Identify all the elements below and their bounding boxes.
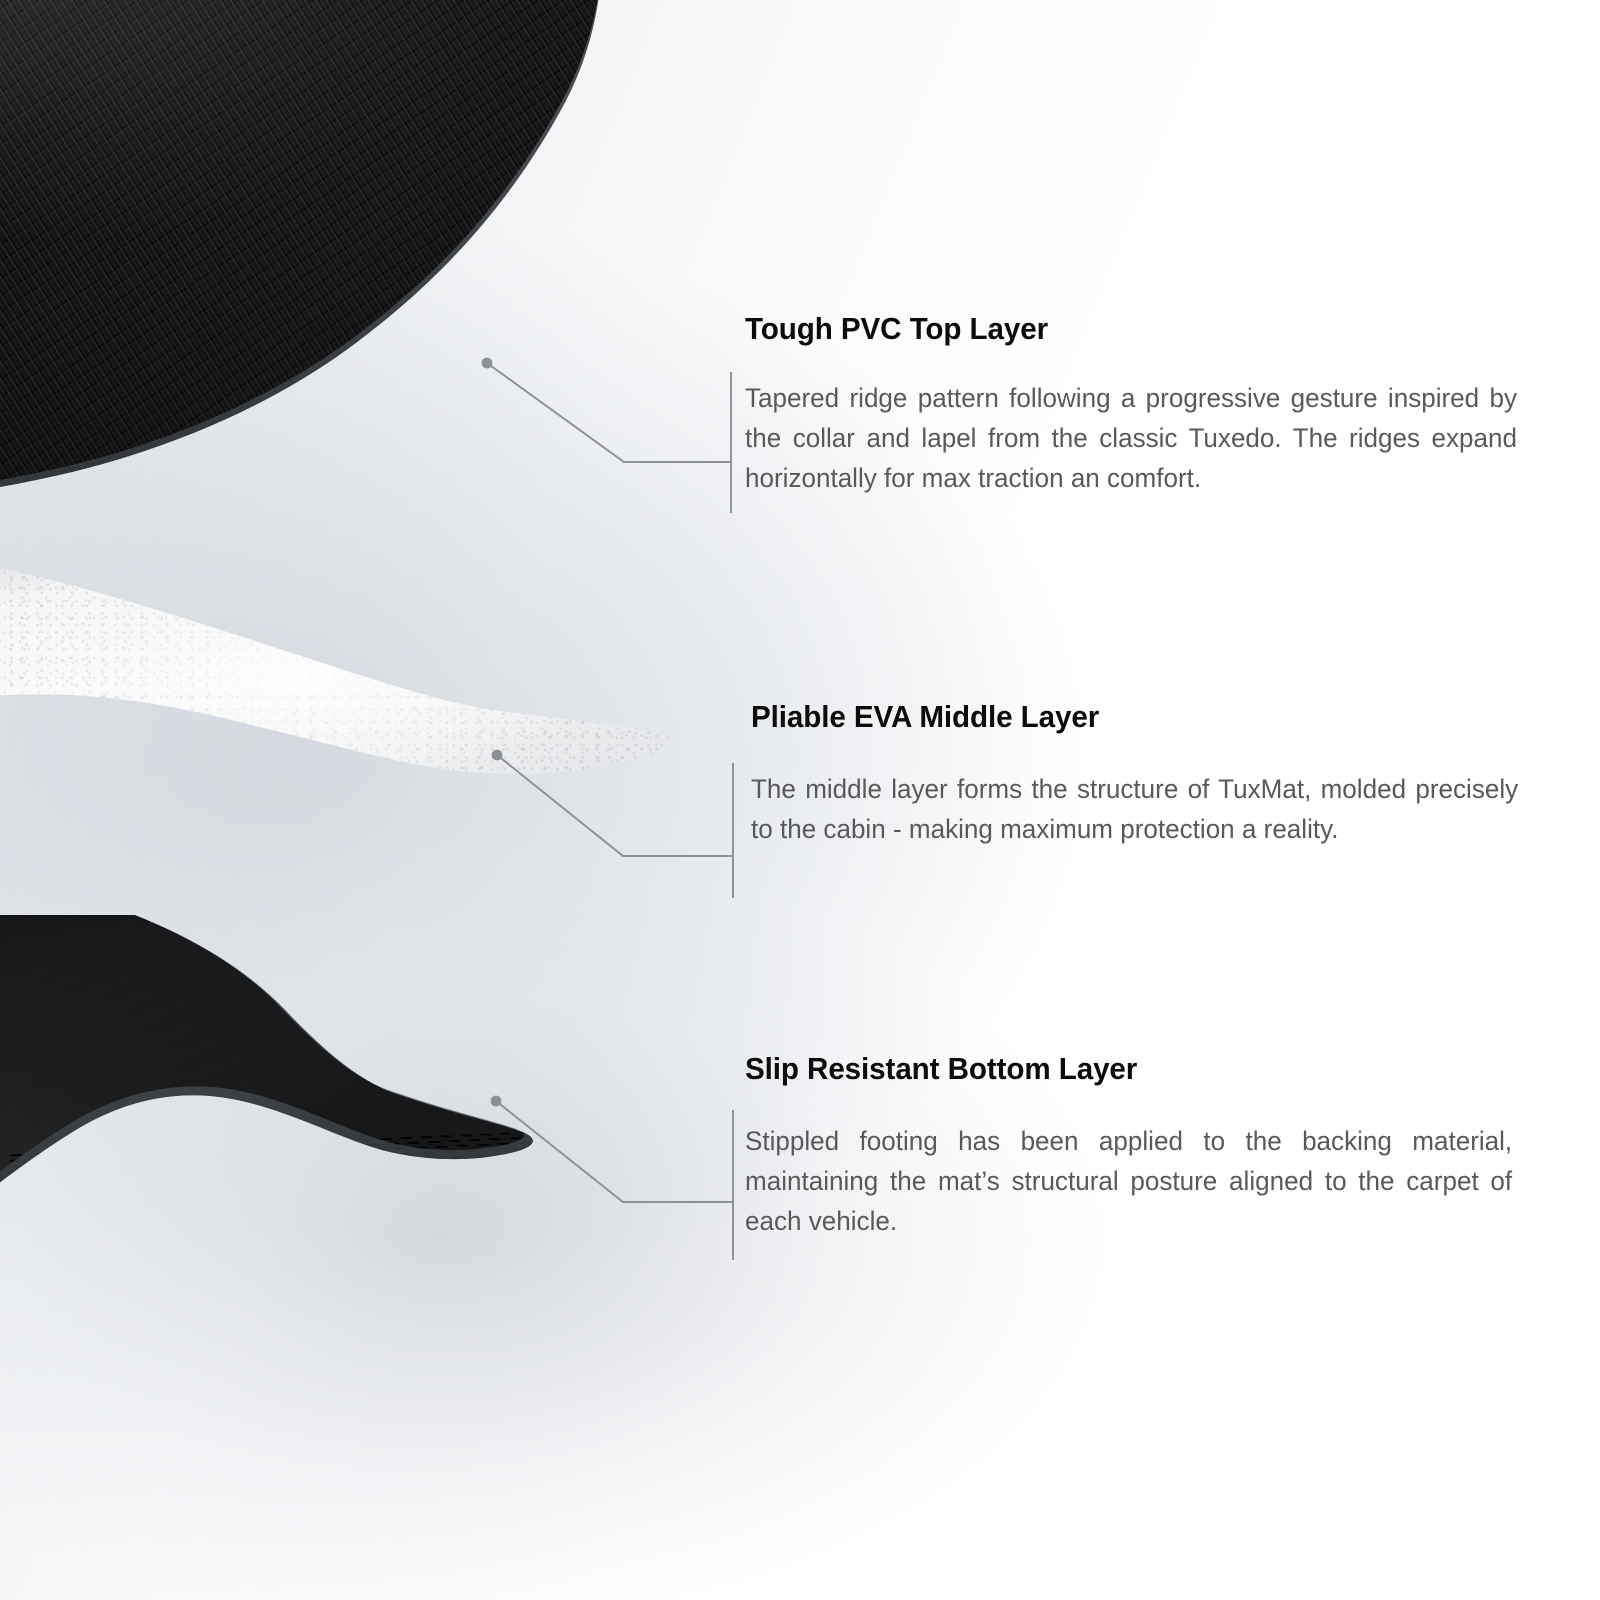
product-layer-infographic: Tough PVC Top Layer Tapered ridge patter… bbox=[0, 0, 1600, 1600]
slip-resistant-bottom-layer-image bbox=[0, 915, 710, 1345]
callout-body-backing: Stippled footing has been applied to the… bbox=[745, 1122, 1512, 1242]
callout-pvc-top-layer: Tough PVC Top Layer Tapered ridge patter… bbox=[745, 313, 1545, 499]
leader-line-backing bbox=[491, 1096, 733, 1260]
backing-layer-shading bbox=[0, 915, 710, 1345]
leader-dot-backing bbox=[491, 1096, 502, 1107]
eva-middle-layer-image bbox=[0, 525, 700, 945]
eva-layer-shading bbox=[0, 525, 700, 945]
callout-body-eva: The middle layer forms the structure of … bbox=[751, 770, 1518, 850]
pvc-layer-sheen bbox=[0, 0, 820, 540]
leader-dot-pvc bbox=[482, 358, 493, 369]
leader-line-pvc bbox=[482, 358, 731, 513]
callout-heading-eva: Pliable EVA Middle Layer bbox=[751, 701, 1515, 732]
pvc-top-layer-image bbox=[0, 0, 820, 540]
callout-heading-pvc: Tough PVC Top Layer bbox=[745, 313, 1509, 344]
callout-heading-backing: Slip Resistant Bottom Layer bbox=[745, 1053, 1509, 1084]
callout-body-pvc: Tapered ridge pattern following a progre… bbox=[745, 379, 1517, 499]
callout-slip-resistant-bottom-layer: Slip Resistant Bottom Layer Stippled foo… bbox=[745, 1053, 1545, 1242]
callout-eva-middle-layer: Pliable EVA Middle Layer The middle laye… bbox=[751, 701, 1551, 850]
